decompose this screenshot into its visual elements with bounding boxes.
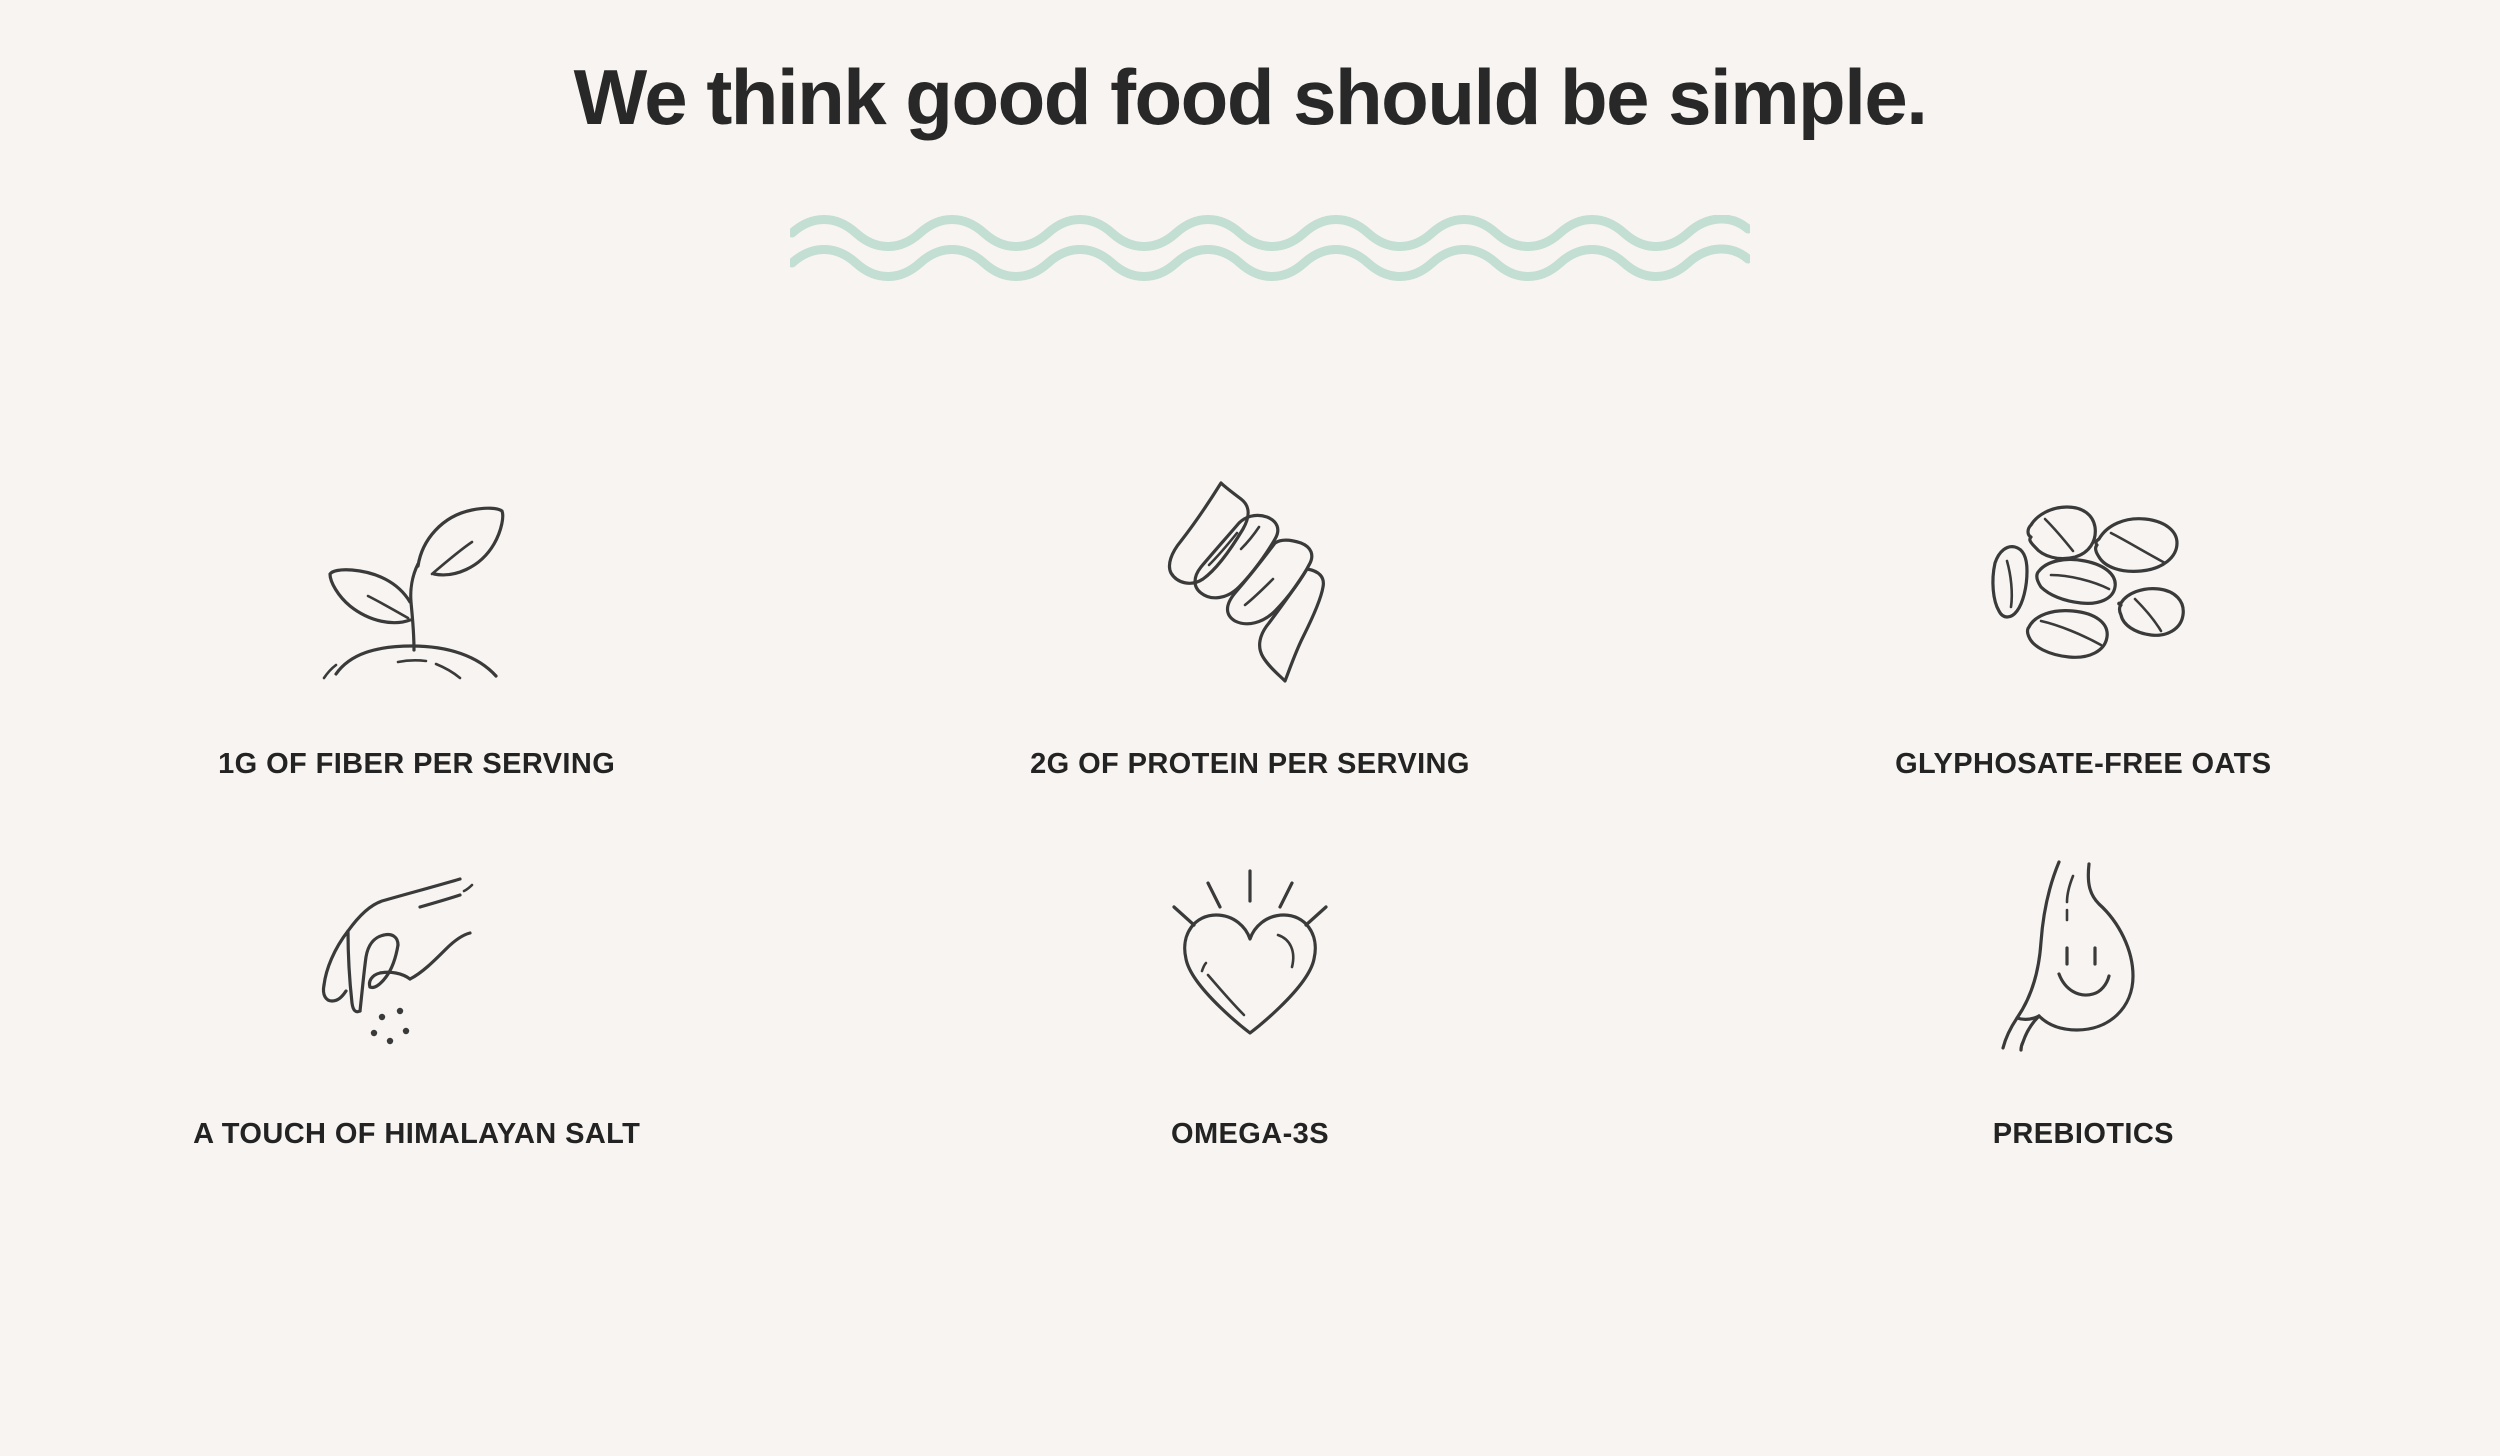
- feature-item-omega: OMEGA-3S: [833, 828, 1666, 1196]
- feature-label-omega: OMEGA-3S: [1171, 1118, 1329, 1151]
- feature-label-oats: GLYPHOSATE-FREE OATS: [1895, 748, 2271, 781]
- feature-label-prebiotics: PREBIOTICS: [1993, 1118, 2174, 1151]
- section-header: We think good food should be simple.: [0, 58, 2500, 136]
- feature-label-protein: 2G OF PROTEIN PER SERVING: [1030, 748, 1470, 781]
- marketing-benefits-section: We think good food should be simple.: [0, 0, 2500, 1456]
- feature-item-fiber: 1G OF FIBER PER SERVING: [0, 460, 833, 828]
- feature-item-prebiotics: PREBIOTICS: [1667, 828, 2500, 1196]
- oat-flakes-icon: [1973, 460, 2193, 710]
- radiating-heart-icon: [1150, 828, 1350, 1078]
- feature-item-oats: GLYPHOSATE-FREE OATS: [1667, 460, 2500, 828]
- hand-sprinkling-salt-icon: [312, 828, 522, 1078]
- wavy-divider: [790, 215, 1750, 285]
- page-title: We think good food should be simple.: [0, 58, 2500, 136]
- sprout-icon: [302, 460, 532, 710]
- feature-label-fiber: 1G OF FIBER PER SERVING: [218, 748, 615, 781]
- feature-item-protein: 2G OF PROTEIN PER SERVING: [833, 460, 1666, 828]
- protein-ribbon-icon: [1155, 460, 1345, 710]
- feature-item-salt: A TOUCH OF HIMALAYAN SALT: [0, 828, 833, 1196]
- feature-grid: 1G OF FIBER PER SERVING: [0, 460, 2500, 1196]
- feature-label-salt: A TOUCH OF HIMALAYAN SALT: [193, 1118, 640, 1151]
- smiling-stomach-icon: [1983, 828, 2183, 1078]
